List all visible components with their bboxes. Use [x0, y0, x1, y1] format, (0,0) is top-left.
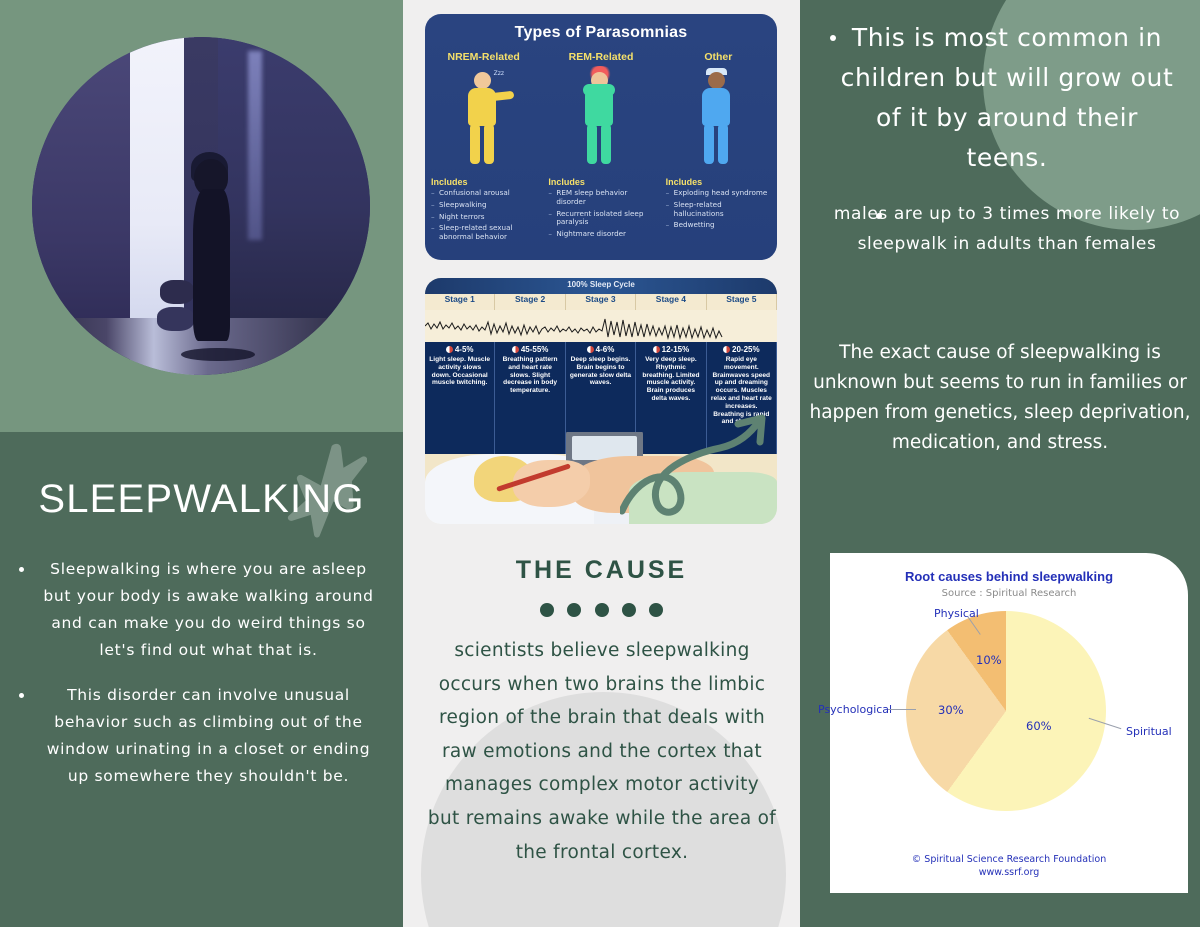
pie-label-spiritual: Spiritual — [1126, 725, 1172, 738]
stage-header-1: Stage 1 — [425, 294, 495, 310]
left-column: SLEEPWALKING Sleepwalking is where you a… — [0, 0, 403, 927]
stage-header-4: Stage 4 — [636, 294, 706, 310]
stage-text-4: Very deep sleep. Rhythmic breathing. Lim… — [639, 356, 702, 403]
chart-title: Root causes behind sleepwalking — [830, 569, 1188, 584]
list-item: Sleep-related sexual abnormal behavior — [431, 224, 537, 242]
bullet-dot-icon — [830, 35, 836, 41]
percent-dot-icon — [723, 346, 730, 353]
percent-dot-icon — [446, 346, 453, 353]
list-item: Bedwetting — [666, 221, 772, 230]
dot-divider — [403, 602, 800, 621]
right-bullet-text-1: This is most common in children but will… — [841, 23, 1174, 172]
includes-list-rem: REM sleep behavior disorder Recurrent is… — [548, 189, 654, 239]
parasomnias-column-other: Other — [660, 51, 777, 168]
figure-leg-a — [704, 124, 714, 164]
pie-value-physical: 10% — [976, 653, 1002, 667]
stage-text-3: Deep sleep begins. Brain begins to gener… — [569, 356, 632, 387]
figure-head — [474, 72, 491, 89]
parasomnias-heading-nrem: NREM-Related — [431, 51, 536, 63]
list-item: Night terrors — [431, 213, 537, 222]
parasomnias-column-rem: REM-Related — [542, 51, 659, 168]
parasomnias-title: Types of Parasomnias — [425, 24, 777, 42]
pie-label-psychological: Psychological — [818, 703, 892, 716]
list-item: This disorder can involve unusual behavi… — [10, 682, 393, 790]
divider-dot-icon — [567, 603, 581, 617]
photo-child-body — [193, 189, 230, 341]
stage-percent-3: 4-6% — [569, 345, 632, 354]
chart-footer: © Spiritual Science Research Foundation … — [830, 853, 1188, 879]
includes-label-nrem: Includes — [431, 177, 537, 187]
figure-torso — [585, 88, 613, 126]
bullet-dot-icon — [19, 567, 24, 572]
bullet-dot-icon — [876, 213, 882, 219]
photo-light-strip — [248, 51, 262, 240]
parasomnias-columns: NREM-Related Zzz REM-Related — [425, 51, 777, 168]
the-cause-body-text: scientists believe sleepwalking occurs w… — [427, 634, 777, 869]
right-bullet-text-2: males are up to 3 times more likely to s… — [834, 204, 1180, 254]
eeg-waveform-icon — [425, 310, 777, 342]
other-figure-icon — [688, 68, 748, 168]
pie-value-spiritual: 60% — [1026, 719, 1052, 733]
zzz-icon: Zzz — [494, 70, 504, 77]
stage-percent-value-2: 45-55% — [521, 345, 549, 354]
parasomnias-heading-rem: REM-Related — [548, 51, 653, 63]
divider-dot-icon — [595, 603, 609, 617]
stage-header-2: Stage 2 — [495, 294, 565, 310]
pie-leader-psychological — [888, 709, 916, 710]
photo-toy-one — [160, 280, 194, 304]
bullet-dot-icon — [19, 693, 24, 698]
child-sleepwalking-photo — [32, 37, 370, 375]
stage-percent-value-3: 4-6% — [596, 345, 615, 354]
sleep-cycle-banner: 100% Sleep Cycle — [425, 278, 777, 294]
divider-dot-icon — [649, 603, 663, 617]
stage-text-2: Breathing pattern and heart rate slows. … — [498, 356, 561, 395]
parasomnias-includes-row: Includes Confusional arousal Sleepwalkin… — [425, 177, 777, 245]
stage-percent-value-5: 20-25% — [732, 345, 760, 354]
brochure-page: SLEEPWALKING Sleepwalking is where you a… — [0, 0, 1200, 927]
stage-percent-value-1: 4-5% — [455, 345, 474, 354]
divider-dot-icon — [622, 603, 636, 617]
list-item: Recurrent isolated sleep paralysis — [548, 210, 654, 228]
parasomnias-heading-other: Other — [666, 51, 771, 63]
includes-nrem: Includes Confusional arousal Sleepwalkin… — [425, 177, 542, 245]
list-item: This is most common in children but will… — [802, 18, 1198, 178]
chart-footer-line-1: © Spiritual Science Research Foundation — [830, 853, 1188, 866]
figure-leg-a — [587, 124, 597, 164]
list-item: Nightmare disorder — [548, 230, 654, 239]
includes-other: Includes Exploding head syndrome Sleep-r… — [660, 177, 777, 245]
stage-percent-2: 45-55% — [498, 345, 561, 354]
left-bullet-text-2: This disorder can involve unusual behavi… — [47, 686, 371, 785]
pie-slices — [906, 611, 1106, 811]
pie-value-psychological: 30% — [938, 703, 964, 717]
percent-dot-icon — [512, 346, 519, 353]
sleep-cycle-stage-headers: Stage 1 Stage 2 Stage 3 Stage 4 Stage 5 — [425, 294, 777, 310]
pie-label-physical: Physical — [934, 607, 979, 620]
sleep-cycle-infographic: 100% Sleep Cycle Stage 1 Stage 2 Stage 3… — [425, 278, 777, 524]
section-heading-the-cause: THE CAUSE — [403, 556, 800, 585]
chart-footer-line-2: www.ssrf.org — [830, 866, 1188, 879]
figure-head — [708, 72, 725, 89]
middle-column: Types of Parasomnias NREM-Related Zzz RE… — [403, 0, 800, 927]
stage-header-5: Stage 5 — [707, 294, 777, 310]
list-item: Sleepwalking — [431, 201, 537, 210]
includes-list-nrem: Confusional arousal Sleepwalking Night t… — [431, 189, 537, 242]
figure-leg-b — [484, 124, 494, 164]
stage-header-3: Stage 3 — [566, 294, 636, 310]
root-causes-pie-chart: Root causes behind sleepwalking Source :… — [830, 553, 1188, 893]
page-title: SLEEPWALKING — [0, 477, 403, 522]
chart-subtitle: Source : Spiritual Research — [830, 588, 1188, 599]
photo-toy-two — [157, 307, 194, 331]
stage-percent-value-4: 12-15% — [662, 345, 690, 354]
parasomnias-infographic: Types of Parasomnias NREM-Related Zzz RE… — [425, 14, 777, 260]
sleeping-person-illustration — [425, 432, 777, 524]
list-item: Sleepwalking is where you are asleep but… — [10, 556, 393, 664]
list-item: Exploding head syndrome — [666, 189, 772, 198]
figure-torso — [702, 88, 730, 126]
list-item: males are up to 3 times more likely to s… — [802, 200, 1198, 259]
figure-torso — [468, 88, 496, 126]
includes-rem: Includes REM sleep behavior disorder Rec… — [542, 177, 659, 245]
stage-percent-1: 4-5% — [428, 345, 491, 354]
stage-percent-4: 12-15% — [639, 345, 702, 354]
figure-leg-b — [601, 124, 611, 164]
pie-plot-area: Physical 10% Psychological 30% Spiritual… — [830, 599, 1188, 817]
divider-dot-icon — [540, 603, 554, 617]
left-bullet-text-1: Sleepwalking is where you are asleep but… — [43, 560, 373, 659]
left-bullet-list: Sleepwalking is where you are asleep but… — [10, 556, 393, 808]
list-item: Confusional arousal — [431, 189, 537, 198]
right-bullet-list: This is most common in children but will… — [802, 18, 1198, 259]
stage-text-1: Light sleep. Muscle activity slows down.… — [428, 356, 491, 387]
figure-leg-b — [718, 124, 728, 164]
list-item: REM sleep behavior disorder — [548, 189, 654, 207]
blanket — [629, 472, 777, 524]
sleep-cycle-banner-text: 100% Sleep Cycle — [425, 280, 777, 289]
includes-list-other: Exploding head syndrome Sleep-related ha… — [666, 189, 772, 230]
percent-dot-icon — [653, 346, 660, 353]
figure-leg-a — [470, 124, 480, 164]
right-paragraph: The exact cause of sleepwalking is unkno… — [800, 338, 1200, 458]
rem-figure-icon — [571, 68, 631, 168]
stage-percent-5: 20-25% — [710, 345, 773, 354]
includes-label-rem: Includes — [548, 177, 654, 187]
stage-text-5: Rapid eye movement. Brainwaves speed up … — [710, 356, 773, 426]
parasomnias-column-nrem: NREM-Related Zzz — [425, 51, 542, 168]
includes-label-other: Includes — [666, 177, 772, 187]
nrem-figure-icon: Zzz — [454, 68, 514, 168]
list-item: Sleep-related hallucinations — [666, 201, 772, 219]
percent-dot-icon — [587, 346, 594, 353]
